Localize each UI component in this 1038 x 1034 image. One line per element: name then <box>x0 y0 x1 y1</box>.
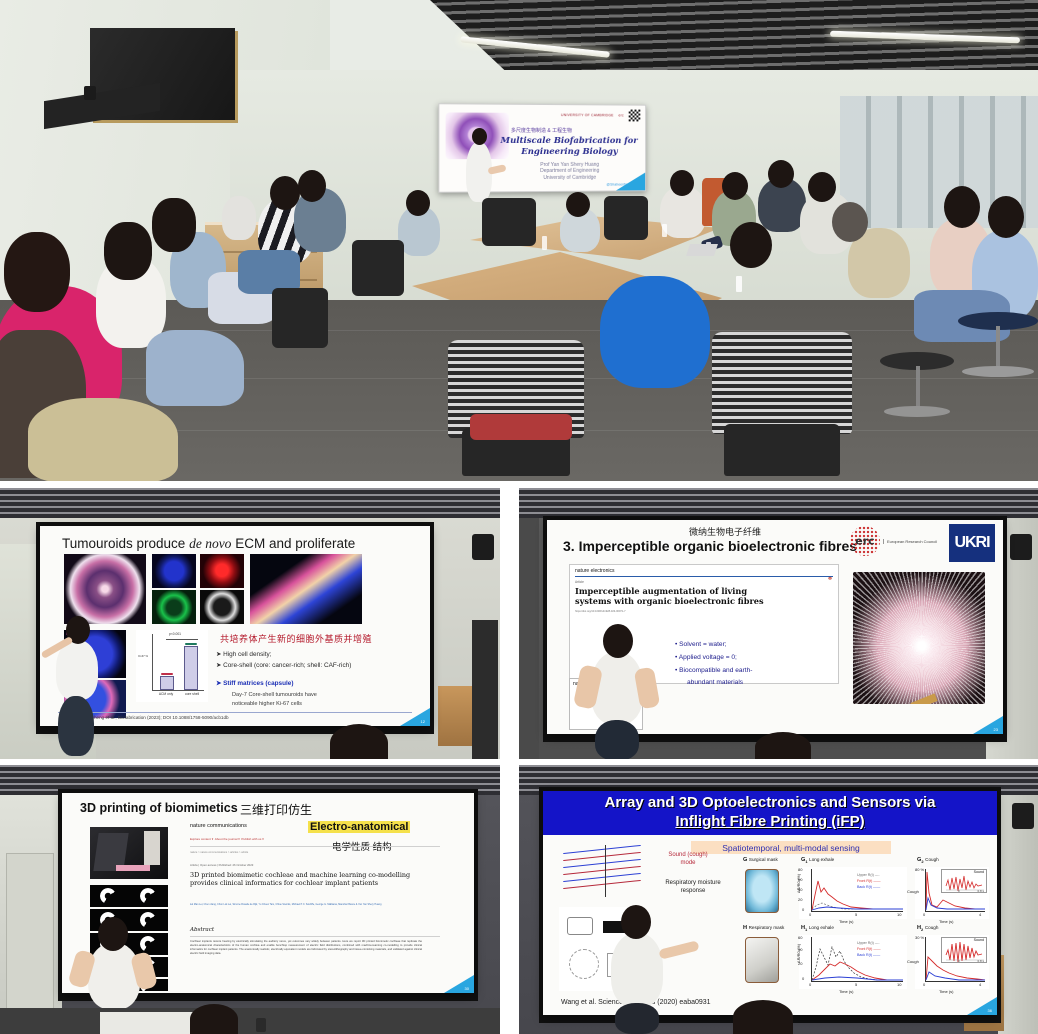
bullet-1: ➤ High cell density; <box>216 650 271 659</box>
chinese-title: 三维打印仿生 <box>240 801 312 818</box>
journal-nav: Explore content ▾ About the journal ▾ Pu… <box>190 837 264 841</box>
inset-sound-H2: Sound 0.8 s 0 <box>941 937 987 963</box>
water-bottle <box>736 276 742 292</box>
presenter-head <box>98 917 128 951</box>
plot-H1: 60 40 20 0 0 5 10 ΔR/R0 (%) Upper R(t) -… <box>799 935 907 989</box>
article-kicker: Article <box>570 577 838 584</box>
camera-icon <box>1010 534 1032 560</box>
slide-corner-accent <box>616 173 645 191</box>
slide-title-line2: Engineering Biology <box>495 147 644 158</box>
photo-collage: UNIVERSITY OF CAMBRIDGE erc 多尺度生物制造 & 工程… <box>0 0 1038 1034</box>
microscopy-image-shell <box>250 554 362 624</box>
x-axis-label-G2: Time (s) <box>939 919 954 924</box>
legend-front: Front R(t) —— <box>857 947 881 952</box>
attendee-head <box>406 190 430 216</box>
cochlea-scan-1 <box>90 885 168 907</box>
stool-leg <box>916 366 920 410</box>
bullet-2: • Applied voltage = 0; <box>675 653 737 663</box>
lectern <box>438 686 472 746</box>
chair-dark <box>604 196 648 240</box>
nav-item-about[interactable]: About the journal <box>215 837 238 841</box>
water-bottle <box>542 236 547 250</box>
panel-slide-fibre: 微纳生物电子纤维 3. Imperceptible organic bioele… <box>519 488 1038 759</box>
slide-corner-accent <box>973 716 1003 734</box>
title-banner: Array and 3D Optoelectronics and Sensors… <box>543 791 997 835</box>
cambridge-logo: UNIVERSITY OF CAMBRIDGE <box>561 113 614 117</box>
slide-title: Multiscale Biofabrication for Engineerin… <box>495 136 644 158</box>
paper-title-line1: Imperceptible augmentation of living <box>570 584 838 596</box>
stool-right-2 <box>880 352 954 418</box>
panel-tag-G2: G2 Cough <box>917 857 939 864</box>
slide-corner-accent <box>400 708 430 726</box>
audience-head-silhouette <box>733 1000 793 1034</box>
datapoints-acm <box>161 673 173 675</box>
bullet-stiff-matrices: ➤ Stiff matrices (capsule) <box>216 679 293 688</box>
page-number: 36 <box>988 1008 992 1013</box>
printer-bed <box>116 865 150 871</box>
x-axis <box>152 690 204 691</box>
bullet-3-cont: abundant materials <box>687 678 743 688</box>
chair-base <box>724 424 840 476</box>
slide-corner-accent <box>444 975 474 993</box>
y-axis-label: ΔR/R0 (%) <box>796 944 801 963</box>
attendee-head <box>152 198 196 252</box>
chair-red-seat <box>470 414 572 440</box>
x-axis-label-H1: Time (s) <box>839 989 854 994</box>
presenter-legs <box>58 696 94 756</box>
stool-base <box>884 406 951 417</box>
erc-dots-icon: erc <box>850 526 880 556</box>
article-kicker: Article | Open access | Published: 26 Oc… <box>190 863 253 867</box>
bullet-1: • Solvent = water; <box>675 640 727 650</box>
respiratory-mask-photo <box>745 937 779 983</box>
dandelion-fuzz <box>853 572 985 704</box>
surgical-mask-photo <box>745 869 779 913</box>
audience-head-silhouette <box>755 732 811 759</box>
plot-H2: 30 % Cough 0 4 Sound 0.8 s 0 <box>915 935 989 989</box>
presenter-body <box>56 640 98 700</box>
presentation-screen: Tumouroids produce de novo ECM and proli… <box>40 526 430 726</box>
water-bottle <box>662 224 667 237</box>
divider <box>190 936 440 937</box>
inset-sound-G2: Sound 0.8 s 0 <box>941 869 987 893</box>
abstract-body: Cochlear implants restore hearing by ele… <box>190 940 422 956</box>
panel-slide-biomimetics: 3D printing of biomimetics 三维打印仿生 Electr… <box>0 765 500 1034</box>
panel-tag-G: G Surgical mask <box>743 857 778 863</box>
panel-slide-ifp: Array and 3D Optoelectronics and Sensors… <box>519 765 1038 1034</box>
abstract-heading: Abstract <box>190 927 214 933</box>
chair-dark <box>482 198 536 246</box>
attendee-blue-shirt-foreground <box>600 276 710 388</box>
attendee-jeans <box>146 330 244 406</box>
legend-back: Back R(t) —— <box>857 885 880 890</box>
presenter-body <box>88 943 140 1009</box>
fibre-array-schematic <box>559 843 655 901</box>
ceiling-slats <box>0 488 500 522</box>
microscopy-image-merged <box>64 554 146 624</box>
microscopy-image-dapi <box>152 554 196 588</box>
ylabel: Ki-67 % <box>134 654 148 658</box>
attendee-head <box>988 196 1024 238</box>
laptop-icon <box>686 244 718 256</box>
presenter-legs <box>615 1003 659 1034</box>
slide-title: Tumouroids produce de novo ECM and proli… <box>62 536 355 552</box>
breadcrumb: nature > nature communications > article… <box>190 851 248 854</box>
bullet-3: • Biocompatible and earth- <box>675 666 752 676</box>
journal-name: nature communications <box>190 823 247 829</box>
3d-printer-photo <box>90 827 168 879</box>
ukri-logo: UKRI <box>949 524 995 562</box>
plot-G1: 80 60 40 20 0 0 5 10 ΔR/R0 (%) Upper R(t… <box>799 867 907 919</box>
attendee-head <box>566 192 590 217</box>
paper-metadata: https://doi.org/10.1038/s41928-023-00971… <box>570 606 838 618</box>
door-frame <box>472 620 498 759</box>
microscopy-image-green <box>152 590 196 624</box>
bullet-sub-1: Day-7 Core-shell tumouroids have <box>232 691 317 700</box>
slide-title-line2: Inflight Fibre Printing (iFP) <box>543 813 997 830</box>
slide-corner-accent <box>967 997 997 1015</box>
audience-head-silhouette <box>330 724 388 759</box>
erc-logo: erc European Research Council <box>850 526 937 556</box>
open-access-icon: ⚭ <box>827 575 833 583</box>
y-axis <box>152 634 153 690</box>
paper-title-line2: systems with organic bioelectronic fibre… <box>570 596 838 606</box>
xtick-acm: ACM only <box>154 692 178 696</box>
plot-lines-G1 <box>799 867 907 919</box>
microscopy-image-grey <box>200 590 244 624</box>
chair-mesh-back <box>712 332 852 434</box>
foreground-table <box>0 1008 500 1034</box>
page-number: 30 <box>465 986 469 991</box>
right-wall <box>998 795 1038 1034</box>
microscopy-image-red <box>200 554 244 588</box>
plot-lines-H1 <box>799 935 907 989</box>
slide-chinese-subtitle: 多尺度生物制造 & 工程生物 <box>511 127 572 134</box>
axis-dash <box>605 845 606 897</box>
nav-item-explore[interactable]: Explore content <box>190 837 211 841</box>
page-number: 23 <box>994 727 998 732</box>
x-axis-label-H2: Time (s) <box>939 989 954 994</box>
attendee-head <box>670 170 694 196</box>
stool-right <box>958 312 1038 382</box>
y-axis-label: ΔR/R0 (%) <box>796 874 801 893</box>
slide-title: 3D printing of biomimetics <box>80 801 238 815</box>
attendee-head <box>298 170 326 202</box>
attendee-head <box>808 172 836 202</box>
panel-tag-H2: H2 Cough <box>917 925 938 932</box>
slide-title-line1: Multiscale Biofabrication for <box>495 136 644 147</box>
door <box>6 853 54 1013</box>
presenter-legs <box>595 720 639 759</box>
page-number: 12 <box>421 719 425 724</box>
legend-back: Back R(t) —— <box>857 953 880 958</box>
legend-upper: Upper R(t) ---- <box>857 941 880 946</box>
datapoints-core <box>185 643 197 645</box>
bullet-2: ➤ Core-shell (core: cancer-rich; shell: … <box>216 661 351 670</box>
presenter-head <box>621 905 651 939</box>
xtick-core-shell: core shell <box>180 692 204 696</box>
camera-icon <box>1012 803 1034 829</box>
chinese-heading: 共培养体产生新的细胞外基质并增殖 <box>220 632 372 645</box>
p-value-annotation: p<0.001 <box>169 632 181 636</box>
microphone-icon <box>256 1018 266 1032</box>
ukri-label: UKRI <box>954 536 989 550</box>
presenter-head <box>472 128 487 145</box>
attendee-head <box>4 232 70 312</box>
highlight-electro-anatomical: Electro-anatomical <box>308 821 410 833</box>
attendee-head <box>768 160 794 188</box>
panel-tag-H1: H1 Long exhale <box>801 925 834 932</box>
divider <box>190 846 440 847</box>
chair-dark <box>272 288 328 348</box>
stool-leg <box>996 326 1000 370</box>
attendee-head <box>104 222 152 280</box>
panel-slide-tumouroids: Tumouroids produce de novo ECM and proli… <box>0 488 500 759</box>
ki67-bar-chart: p<0.001 ACM only core shell Ki-67 % <box>136 630 208 702</box>
chinese-heading: 微纳生物电子纤维 <box>689 525 761 538</box>
erc-logo: erc <box>619 113 624 117</box>
camera-icon <box>472 534 494 560</box>
journal-name: nature electronics <box>570 565 838 576</box>
panel-seminar-room: UNIVERSITY OF CAMBRIDGE erc 多尺度生物制造 & 工程… <box>0 0 1038 481</box>
camera-icon <box>84 86 96 100</box>
presenter-body <box>611 933 663 1007</box>
paper-title: 3D printed biomimetic cochleae and machi… <box>190 871 430 888</box>
legend-upper: Upper R(t) ---- <box>857 873 880 878</box>
chair-dark <box>352 240 404 296</box>
printer-rail <box>144 831 160 865</box>
slide-logo-row: UNIVERSITY OF CAMBRIDGE erc <box>561 109 640 121</box>
presenter-head <box>603 624 633 658</box>
label-moisture-response: Respiratory moistureresponse <box>647 879 739 895</box>
attendee-head <box>722 172 748 200</box>
label-sound-mode: Sound (cough)mode <box>653 851 723 867</box>
bar-core-shell <box>184 646 198 690</box>
legend-front: Front R(t) —— <box>857 879 881 884</box>
bullet-sub-2: noticeable higher Ki-67 cells <box>232 700 302 709</box>
bar-acm-only <box>160 676 174 690</box>
panel-tag-G1: G1 Long exhale <box>801 857 834 864</box>
attendee-head <box>944 186 980 228</box>
attendee-khaki-legs <box>28 398 178 481</box>
left-edge <box>519 518 539 759</box>
slide-title-line1: Array and 3D Optoelectronics and Sensors… <box>543 794 997 811</box>
panel-tag-H: H Respiratory mask <box>743 925 784 931</box>
attendee-grey-hair <box>832 202 868 242</box>
nav-item-publish[interactable]: Publish with us <box>241 837 261 841</box>
attendee-head <box>730 222 772 268</box>
dandelion-photo <box>853 572 985 704</box>
stool-base <box>962 366 1034 377</box>
plot-G2: 80 % Cough 0 4 Sound 0.8 s 0 <box>915 867 989 919</box>
slide-title: 3. Imperceptible organic bioelectronic f… <box>563 538 857 554</box>
significance-bar <box>166 639 198 640</box>
audience-head-silhouette <box>190 1004 238 1034</box>
qr-code-icon <box>629 110 641 122</box>
footer-rule <box>58 712 412 713</box>
paper-authors: Iek Man Lei, Chen Jiang, Chon Lok Lei, S… <box>190 903 430 907</box>
erc-label: European Research Council <box>883 539 937 544</box>
room-scene: UNIVERSITY OF CAMBRIDGE erc 多尺度生物制造 & 工程… <box>0 0 1038 481</box>
x-axis-label-G1: Time (s) <box>839 919 854 924</box>
attendee-far <box>222 196 256 240</box>
